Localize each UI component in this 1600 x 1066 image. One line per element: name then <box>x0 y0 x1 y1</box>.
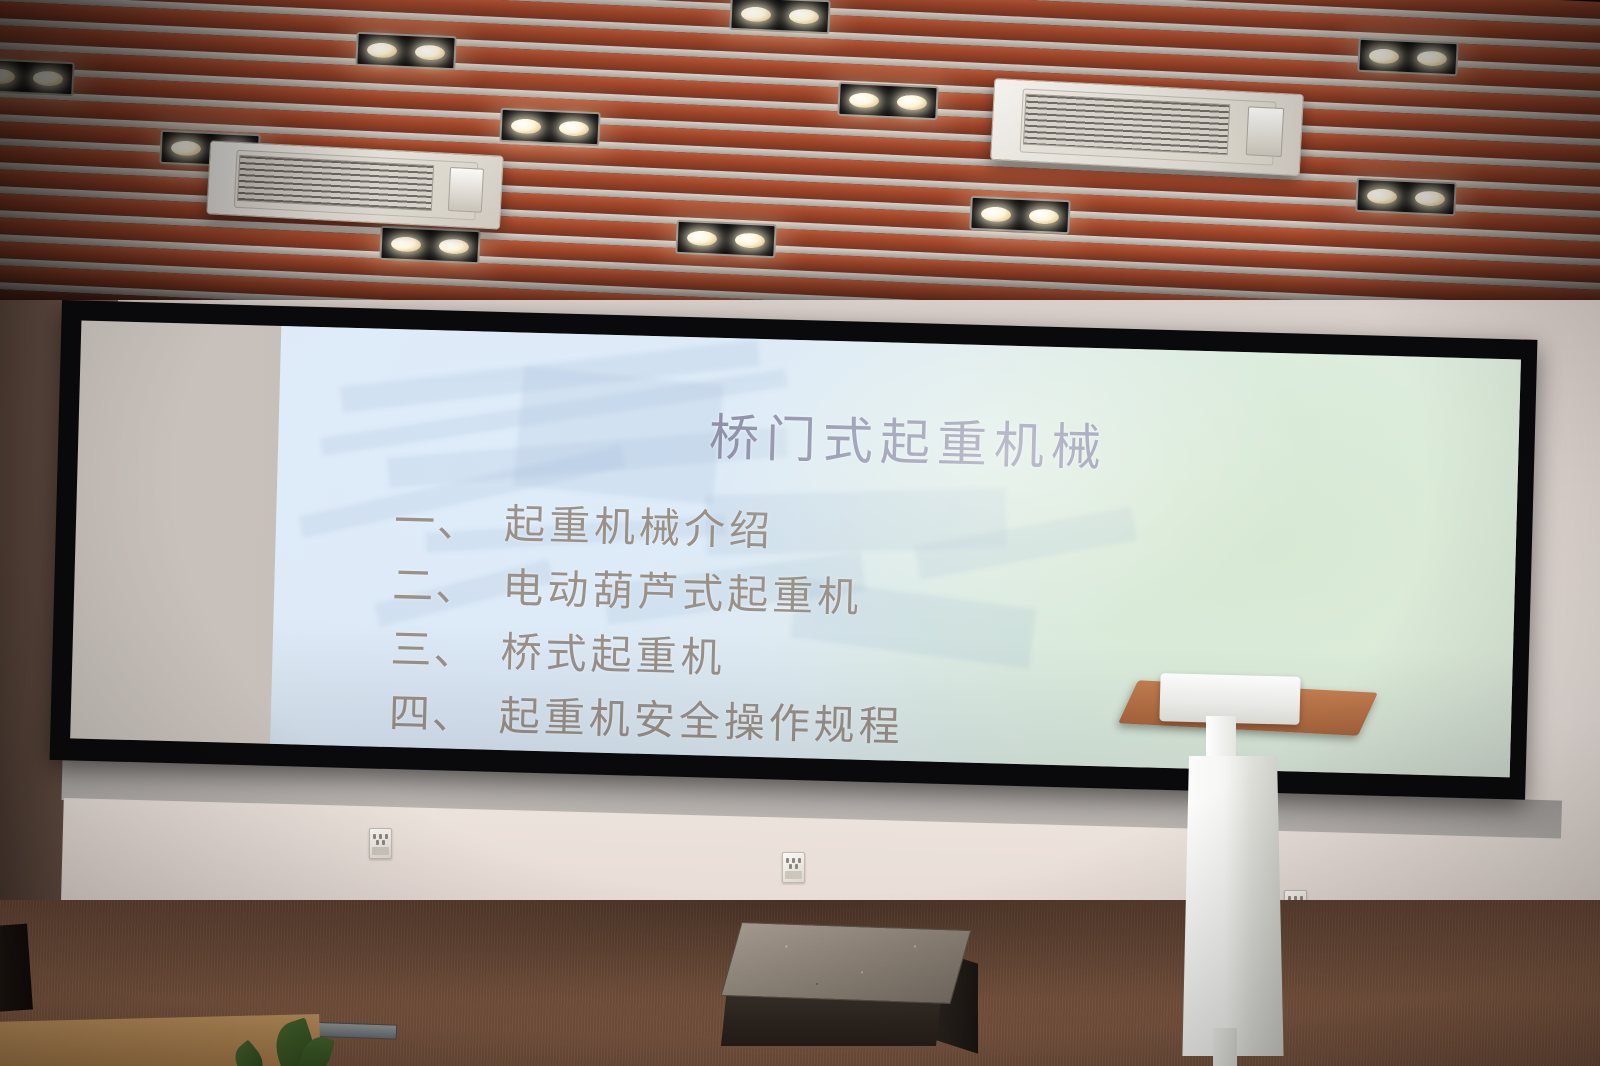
lamp-bulb <box>1415 190 1446 206</box>
lamp-bulb <box>1369 48 1400 64</box>
lamp-bulb <box>367 42 398 58</box>
downlight-13-fixture <box>1355 178 1456 217</box>
lamp-bulb <box>687 230 718 246</box>
outlet-slots <box>786 858 801 869</box>
wall-outlet-center[interactable] <box>782 852 805 883</box>
lamp-bulb <box>1367 188 1398 204</box>
speaker-top <box>721 922 972 1004</box>
downlight-6-fixture <box>499 108 600 147</box>
foreground-table <box>0 1014 321 1066</box>
outlet-slots <box>373 834 388 845</box>
lamp-bulb <box>559 120 590 136</box>
lamp-bulb <box>415 44 446 60</box>
ac-vane <box>1245 107 1283 157</box>
lamp-bulb <box>981 206 1012 222</box>
downlight-10-fixture <box>969 196 1070 235</box>
floor-speaker <box>722 926 984 1046</box>
downlight-8-fixture <box>729 0 830 34</box>
lectern <box>1120 668 1420 1066</box>
lamp-bulb <box>735 232 766 248</box>
lamp-bulb <box>439 238 470 254</box>
lamp-bulb <box>849 92 880 108</box>
ac-grill <box>1023 93 1231 155</box>
lamp-bulb <box>391 236 422 252</box>
downlight-9-fixture <box>837 82 938 121</box>
lamp-bulb <box>511 118 542 134</box>
downlight-5-fixture <box>379 226 480 265</box>
lamp-bulb <box>1029 208 1060 224</box>
ac-cassette-right <box>990 78 1304 176</box>
wall-outlet-left[interactable] <box>369 828 392 859</box>
lectern-body <box>1178 756 1288 1056</box>
lamp-bulb <box>171 140 202 156</box>
ac-vane <box>448 167 484 212</box>
lamp-bulb <box>741 6 772 22</box>
downlight-7-fixture <box>675 220 776 259</box>
lecture-hall-photo: 桥门式起重机械 一、起重机械介绍二、电动葫芦式起重机三、桥式起重机四、起重机安全… <box>0 0 1600 1066</box>
speaker-top-texture <box>722 923 970 1003</box>
ac-cassette-left <box>206 140 503 229</box>
lamp-bulb <box>897 94 928 110</box>
downlight-4-fixture <box>355 32 456 71</box>
left-wall-edge <box>110 320 124 880</box>
lamp-bulb <box>1417 50 1448 66</box>
downlight-2-fixture <box>0 58 75 97</box>
lectern-base-stem <box>1213 1028 1237 1066</box>
left-wall-panel <box>0 300 118 900</box>
lamp-bulb <box>33 70 64 86</box>
lamp-bulb <box>0 68 15 84</box>
outlet-lower-plate <box>372 847 389 855</box>
lamp-bulb <box>789 8 820 24</box>
outlet-lower-plate <box>785 871 802 879</box>
downlight-12-fixture <box>1357 38 1458 77</box>
